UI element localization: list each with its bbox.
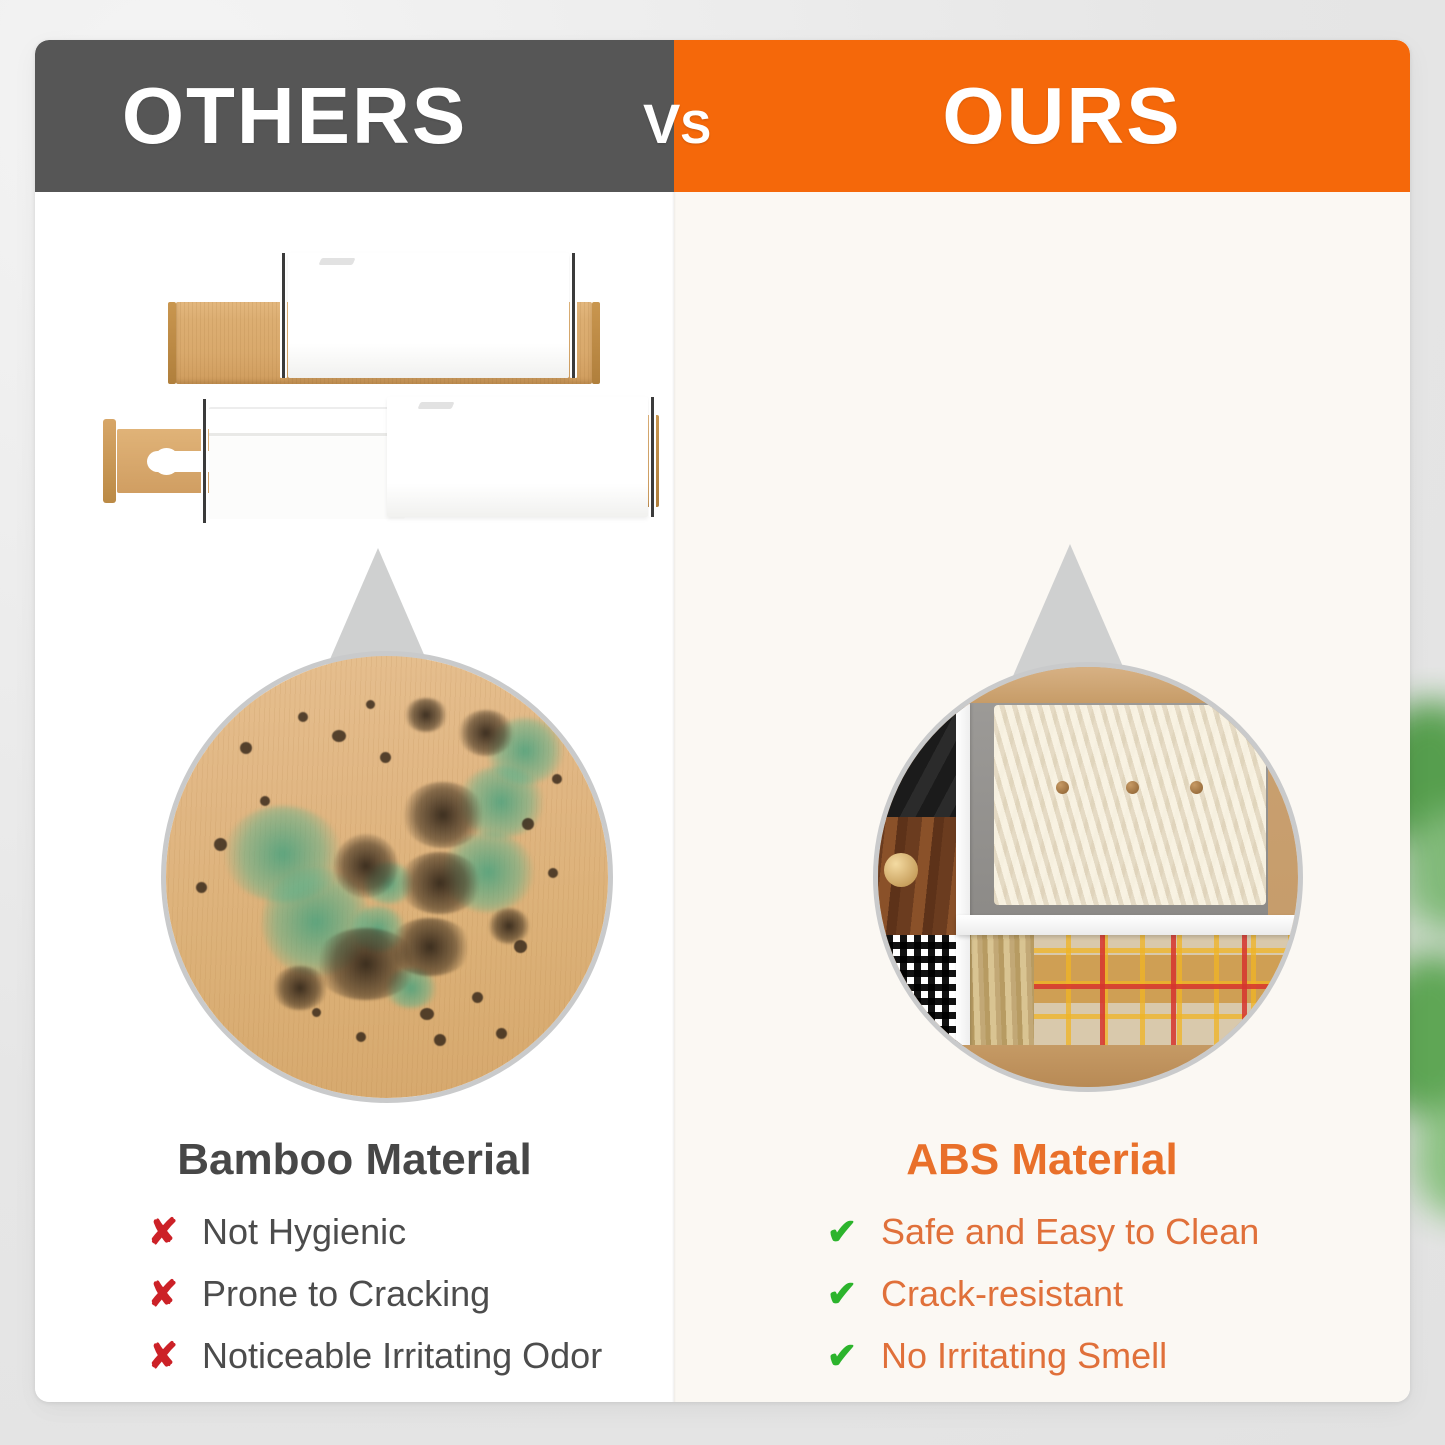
abs-benefit-list: ✔ Safe and Easy to Clean ✔ Crack-resista… [674, 1214, 1410, 1374]
cable-knit-sweater [994, 705, 1266, 905]
list-item-label: Noticeable Irritating Odor [186, 1338, 602, 1374]
list-item-label: Prone to Cracking [186, 1276, 490, 1312]
ours-header: OURS [674, 40, 1410, 192]
white-divider-vertical [956, 703, 970, 1049]
plant-leaf [1413, 1098, 1445, 1218]
x-mark-icon: ✘ [140, 1214, 186, 1250]
list-item: ✔ Safe and Easy to Clean [674, 1214, 1410, 1250]
bamboo-drawback-list: ✘ Not Hygienic ✘ Prone to Cracking ✘ Not… [35, 1214, 674, 1374]
x-mark-icon: ✘ [140, 1276, 186, 1312]
others-header-title: OTHERS [122, 76, 467, 156]
organized-drawer-detail-photo [873, 662, 1303, 1092]
bamboo-end-cap [168, 302, 176, 384]
abs-end-grip [649, 397, 656, 517]
pointer-triangle-icon [1013, 544, 1127, 676]
list-item-label: No Irritating Smell [865, 1338, 1167, 1374]
list-item: ✔ No Irritating Smell [674, 1338, 1410, 1374]
list-item-label: Crack-resistant [865, 1276, 1123, 1312]
abs-end-grip [570, 253, 577, 378]
list-item-label: Safe and Easy to Clean [865, 1214, 1259, 1250]
abs-end-grip [280, 253, 287, 378]
check-mark-icon: ✔ [819, 1338, 865, 1374]
comparison-card: OTHERS OURS VS [35, 40, 1410, 1402]
check-mark-icon: ✔ [819, 1214, 865, 1250]
abs-board [387, 397, 648, 517]
drawer-back-edge [878, 1045, 1298, 1087]
abs-material-title: ABS Material [674, 1136, 1410, 1184]
vs-badge-s: S [680, 101, 711, 153]
fringed-throw [970, 935, 1036, 1047]
list-item: ✘ Prone to Cracking [35, 1276, 674, 1312]
ours-header-title: OURS [942, 76, 1181, 156]
white-divider-horizontal [956, 915, 1298, 935]
drawer-front-edge [878, 667, 1298, 707]
page-background: OTHERS OURS VS [0, 0, 1445, 1445]
abs-divider-closed [280, 253, 577, 378]
sweater-button [1126, 781, 1139, 794]
others-summary: Bamboo Material ✘ Not Hygienic ✘ Prone t… [35, 1136, 674, 1400]
list-item: ✘ Not Hygienic [35, 1214, 674, 1250]
belt-buckle [884, 853, 918, 887]
moldy-bamboo-detail-photo [161, 651, 613, 1103]
abs-notch [318, 258, 355, 265]
others-header: OTHERS [35, 40, 674, 192]
abs-divider-extended [201, 397, 656, 525]
list-item: ✔ Crack-resistant [674, 1276, 1410, 1312]
bamboo-end-cap [592, 302, 600, 384]
abs-slide-track [209, 407, 405, 519]
check-mark-icon: ✔ [819, 1276, 865, 1312]
abs-end-grip [201, 399, 208, 523]
wooden-drawer [878, 667, 1298, 1087]
vs-badge: VS [643, 96, 711, 152]
ours-summary: ABS Material ✔ Safe and Easy to Clean ✔ … [674, 1136, 1410, 1400]
sweater-button [1190, 781, 1203, 794]
abs-notch [417, 402, 454, 409]
abs-board [288, 253, 569, 378]
sweater-button [1056, 781, 1069, 794]
x-mark-icon: ✘ [140, 1338, 186, 1374]
vs-badge-v: V [643, 92, 680, 155]
list-item: ✘ Noticeable Irritating Odor [35, 1338, 674, 1374]
bamboo-material-title: Bamboo Material [35, 1136, 674, 1184]
bamboo-end-cap [103, 419, 116, 503]
list-item-label: Not Hygienic [186, 1214, 406, 1250]
plaid-blanket [1034, 935, 1298, 1047]
